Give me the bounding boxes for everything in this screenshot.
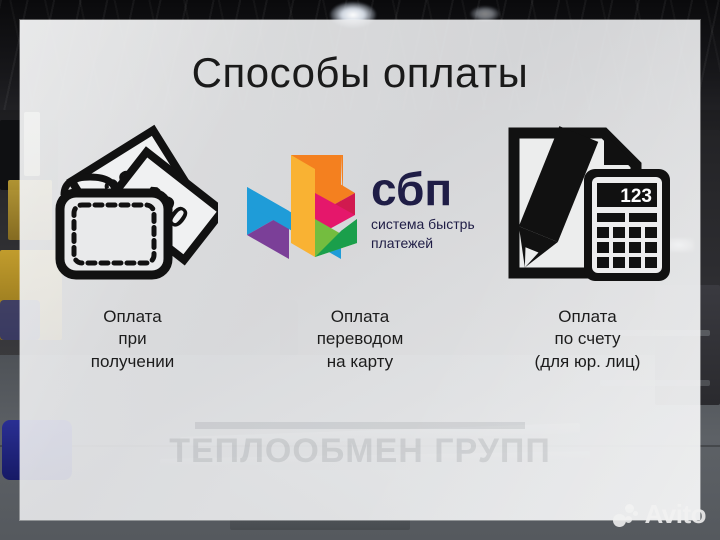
payment-method-caption: Оплата при получении — [91, 306, 174, 373]
avito-watermark: Avito — [613, 499, 706, 530]
caption-line-3: (для юр. лиц) — [535, 351, 641, 373]
caption-line-2: переводом — [317, 328, 404, 350]
sbp-wordmark: сбп — [371, 163, 452, 215]
sbp-mark-icon — [247, 155, 357, 259]
sbp-logo-icon: сбп система быстрых платежей — [245, 118, 475, 298]
caption-line-1: Оплата — [535, 306, 641, 328]
payment-method-card-transfer[interactable]: сбп система быстрых платежей Оплата пере… — [245, 118, 475, 408]
caption-line-1: Оплата — [317, 306, 404, 328]
caption-line-1: Оплата — [91, 306, 174, 328]
slide-canvas: Способы оплаты 200 100 — [0, 0, 720, 540]
page-title: Способы оплаты — [0, 52, 720, 94]
payment-method-invoice[interactable]: 123 Оплата — [475, 118, 700, 408]
calculator-display-value: 123 — [620, 186, 652, 207]
sbp-subtitle-line-2: платежей — [371, 235, 433, 251]
caption-line-2: по счету — [535, 328, 641, 350]
document-pencil-calculator-icon: 123 — [500, 118, 675, 298]
company-watermark: ТЕПЛООБМЕН ГРУПП — [0, 432, 720, 471]
calculator-icon: 123 — [584, 169, 670, 281]
payment-method-caption: Оплата по счету (для юр. лиц) — [535, 306, 641, 373]
payment-method-cash-on-delivery[interactable]: 200 100 Оплата при — [20, 118, 245, 408]
avito-logo-icon — [613, 503, 639, 527]
sbp-subtitle-line-1: система быстрых — [371, 216, 475, 232]
avito-wordmark: Avito — [644, 499, 706, 530]
caption-line-3: на карту — [317, 351, 404, 373]
caption-line-3: получении — [91, 351, 174, 373]
wallet-with-banknotes-icon: 200 100 — [48, 118, 218, 298]
caption-line-2: при — [91, 328, 174, 350]
payment-methods-row: 200 100 Оплата при — [20, 118, 700, 408]
payment-method-caption: Оплата переводом на карту — [317, 306, 404, 373]
